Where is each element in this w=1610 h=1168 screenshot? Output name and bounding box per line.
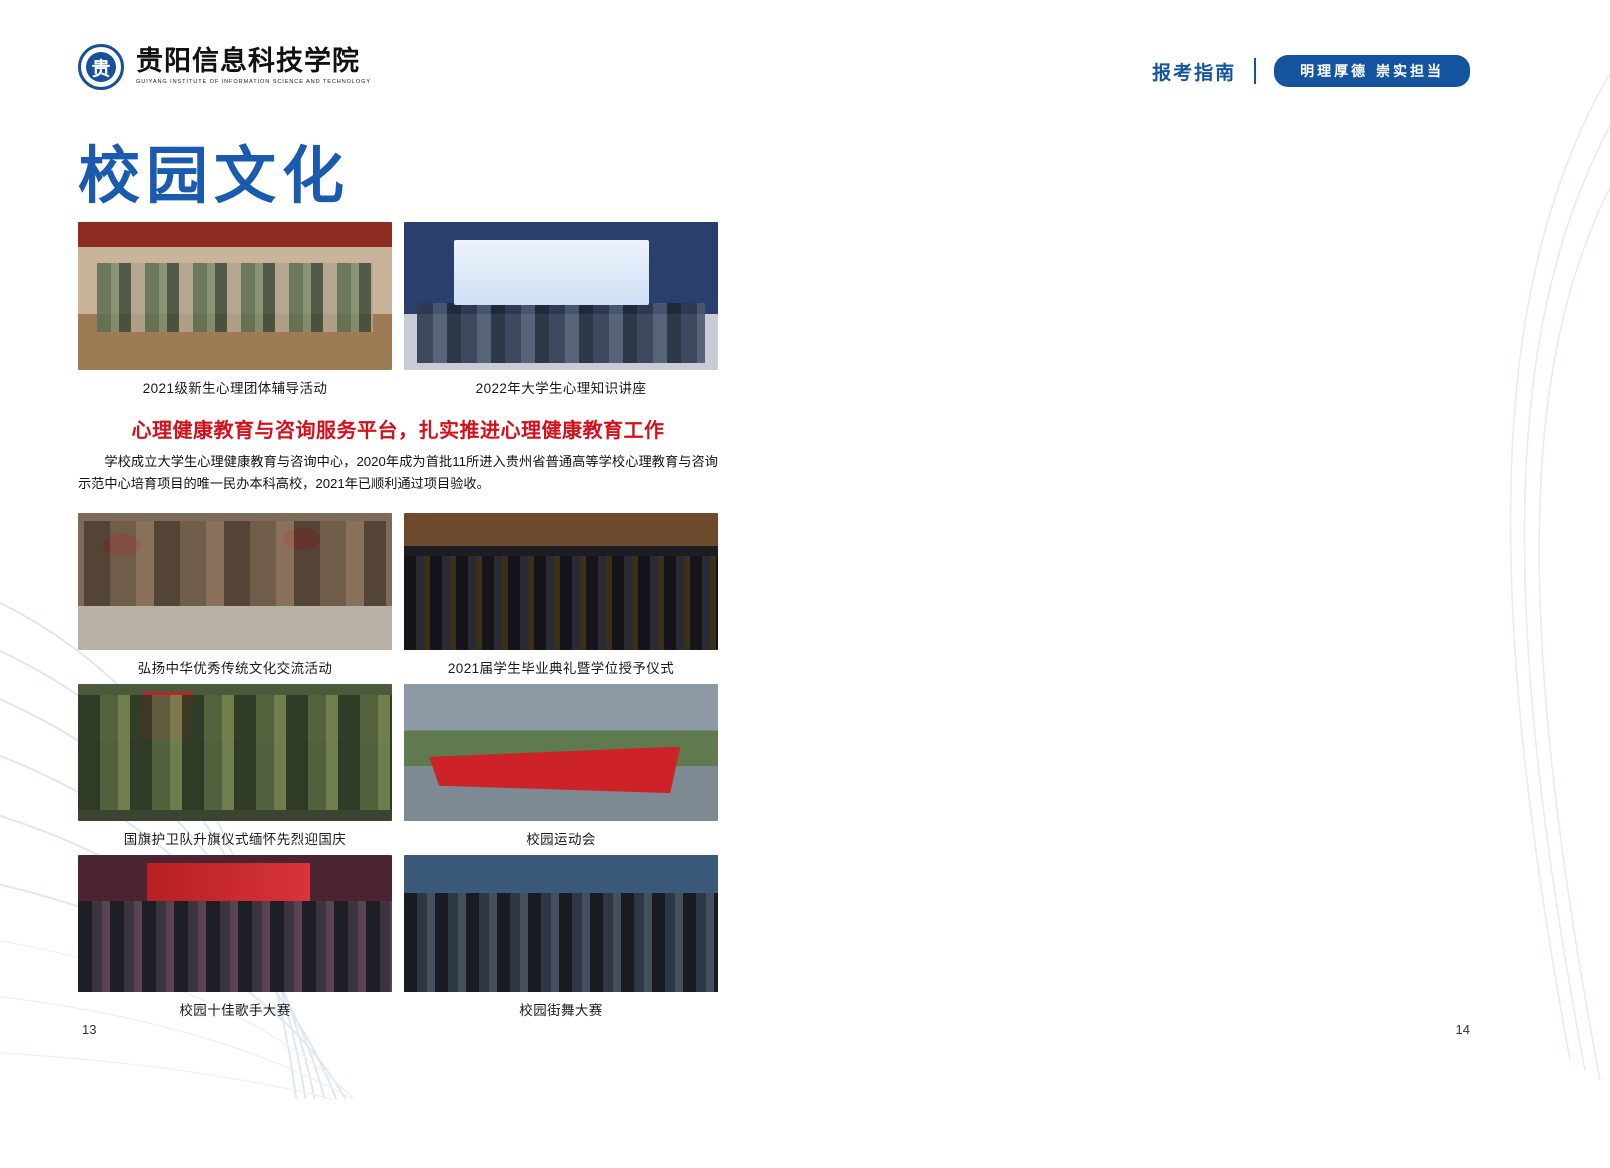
photo-cell: 2022年大学生心理知识讲座 bbox=[404, 222, 718, 404]
photo-cell: 2021级新生心理团体辅导活动 bbox=[78, 222, 392, 404]
photo-row-3: 国旗护卫队升旗仪式缅怀先烈迎国庆 校园运动会 bbox=[78, 684, 718, 855]
photo-cell: 2021届学生毕业典礼暨学位授予仪式 bbox=[404, 513, 718, 684]
photo-flag-guard bbox=[78, 684, 392, 821]
photo-traditional-culture bbox=[78, 513, 392, 650]
photo-caption: 弘扬中华优秀传统文化交流活动 bbox=[78, 657, 392, 677]
photo-row-2: 弘扬中华优秀传统文化交流活动 2021届学生毕业典礼暨学位授予仪式 bbox=[78, 513, 718, 684]
left-page: 校园文化 2021级新生心理团体辅导活动 2022年大学生心理知识讲座 心理健康… bbox=[0, 0, 805, 1099]
photo-psych-group-counseling bbox=[78, 222, 392, 370]
section-body-paragraph: 学校成立大学生心理健康教育与咨询中心，2020年成为首批11所进入贵州省普通高等… bbox=[78, 451, 718, 495]
photo-cell: 校园街舞大赛 bbox=[404, 855, 718, 1026]
photo-street-dance-contest bbox=[404, 855, 718, 992]
photo-row-4: 校园十佳歌手大赛 校园街舞大赛 bbox=[78, 855, 718, 1026]
photo-grid: 2021级新生心理团体辅导活动 2022年大学生心理知识讲座 心理健康教育与咨询… bbox=[78, 222, 718, 1026]
photo-caption: 2022年大学生心理知识讲座 bbox=[404, 377, 718, 397]
right-page: 校园路线图 bbox=[805, 0, 1610, 1099]
photo-cell: 弘扬中华优秀传统文化交流活动 bbox=[78, 513, 392, 684]
page-title: 校园文化 bbox=[78, 125, 350, 215]
photo-caption: 校园运动会 bbox=[404, 828, 718, 848]
photo-cell: 国旗护卫队升旗仪式缅怀先烈迎国庆 bbox=[78, 684, 392, 855]
photo-caption: 2021级新生心理团体辅导活动 bbox=[78, 377, 392, 397]
photo-caption: 校园街舞大赛 bbox=[404, 999, 718, 1019]
photo-row-1: 2021级新生心理团体辅导活动 2022年大学生心理知识讲座 bbox=[78, 222, 718, 404]
page-number-right: 14 bbox=[1456, 1022, 1470, 1037]
page-number-left: 13 bbox=[82, 1022, 96, 1037]
photo-psych-lecture bbox=[404, 222, 718, 370]
photo-caption: 校园十佳歌手大赛 bbox=[78, 999, 392, 1019]
photo-graduation-ceremony bbox=[404, 513, 718, 650]
photo-cell: 校园十佳歌手大赛 bbox=[78, 855, 392, 1026]
photo-caption: 国旗护卫队升旗仪式缅怀先烈迎国庆 bbox=[78, 828, 392, 848]
photo-cell: 校园运动会 bbox=[404, 684, 718, 855]
photo-sports-meet bbox=[404, 684, 718, 821]
section-red-heading: 心理健康教育与咨询服务平台，扎实推进心理健康教育工作 bbox=[78, 414, 718, 443]
photo-singer-contest bbox=[78, 855, 392, 992]
photo-caption: 2021届学生毕业典礼暨学位授予仪式 bbox=[404, 657, 718, 677]
